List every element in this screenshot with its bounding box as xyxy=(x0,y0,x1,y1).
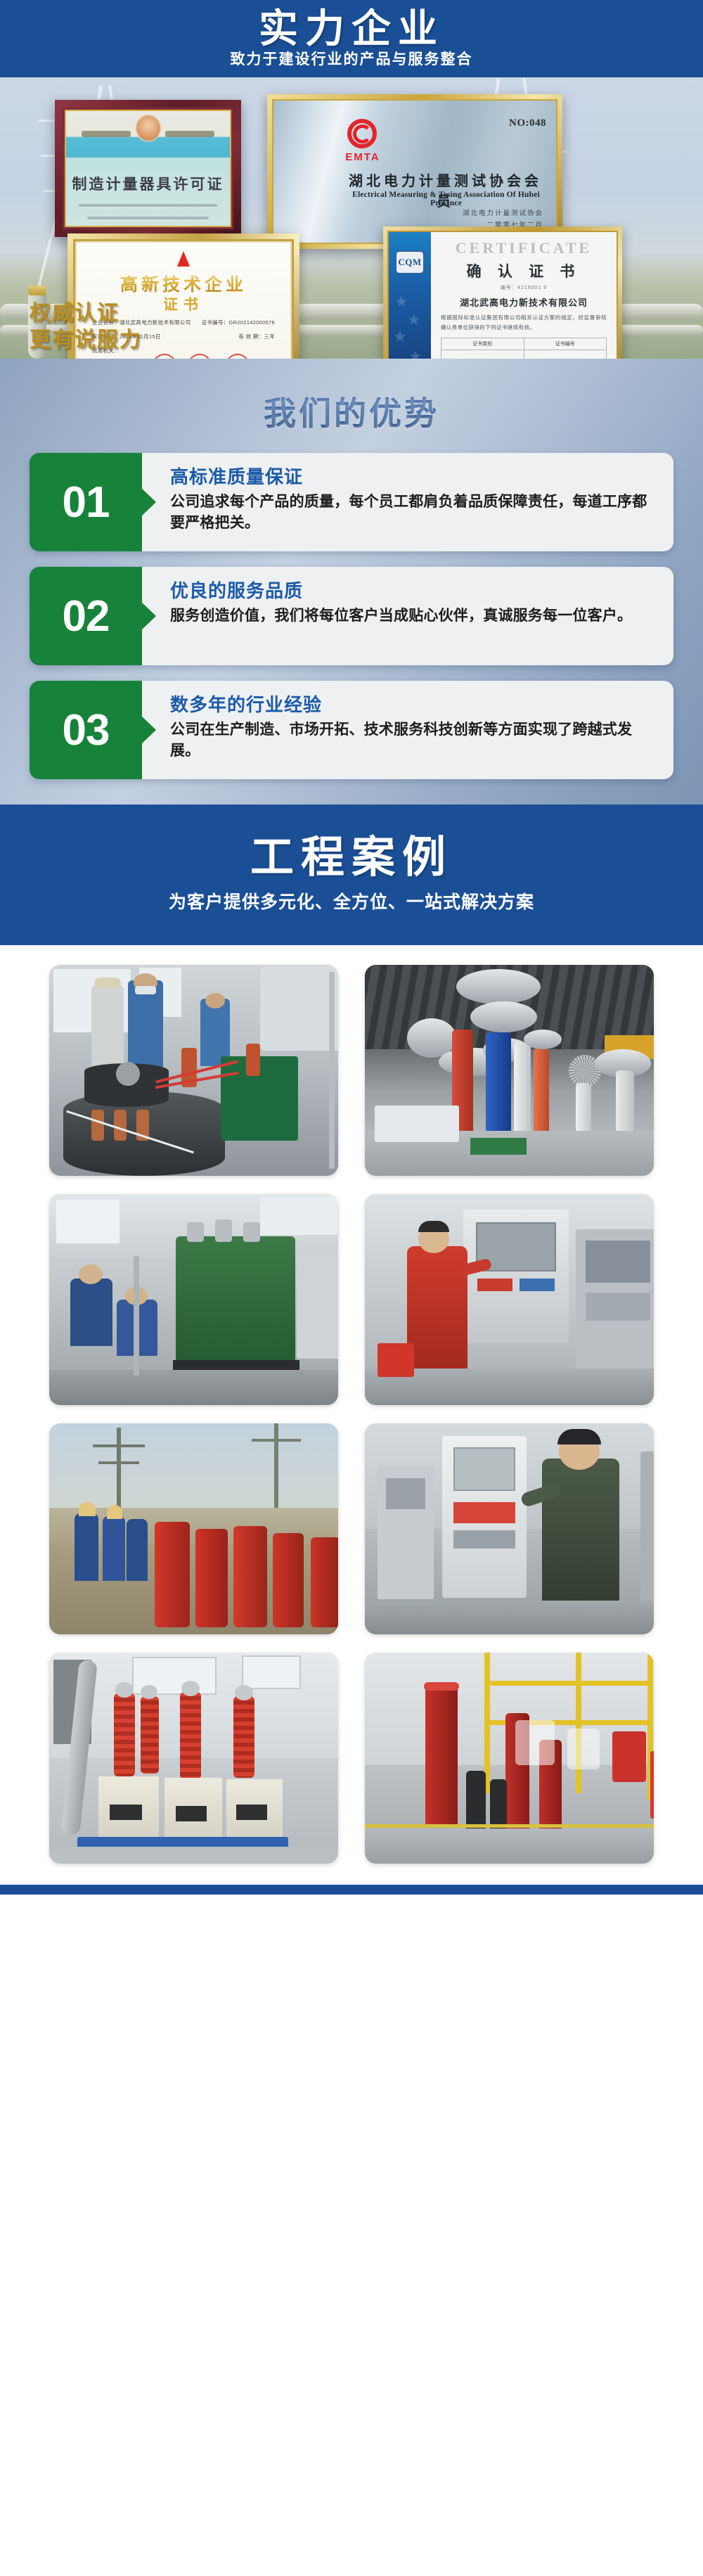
footer-bar xyxy=(0,1885,703,1895)
cases-title: 工程案例 xyxy=(250,836,453,880)
scene xyxy=(49,1423,338,1634)
field-value-validity: 三年 xyxy=(264,333,275,340)
certificate-mat: 制造计量器具许可证 xyxy=(65,110,231,227)
advantage-number-badge: 03 xyxy=(30,681,142,779)
photo-engineer-cabinet[interactable]: 工程师检查试验装置 xyxy=(365,1423,654,1634)
scene xyxy=(49,1194,338,1405)
certificate-code: 编号：4219001 9 xyxy=(431,284,617,291)
certificate-title: 制造计量器具许可证 xyxy=(66,173,230,194)
ribbon-left-decoration xyxy=(82,131,131,137)
certificate-issuer: 湖北电力计量测试协会 xyxy=(463,207,543,217)
advantages-heading: 我们的优势 xyxy=(0,377,703,453)
certificate-emta-membership[interactable]: NO:048 EMTA 湖北电力计量测试协会会员 Electrical Meas… xyxy=(267,94,562,249)
slogan-line-1: 权威认证 xyxy=(30,300,142,327)
advantage-number: 03 xyxy=(63,705,110,755)
advantage-card-01[interactable]: 01 高标准质量保证 公司追求每个产品的质量，每个员工都肩负着品质保障责任，每道… xyxy=(30,453,673,551)
photo-technician-panel[interactable]: 红色工装技术人员操作控制柜 xyxy=(365,1194,654,1405)
cases-subtitle: 为客户提供多元化、全方位、一站式解决方案 xyxy=(169,888,534,914)
advantage-description: 公司追求每个产品的质量，每个员工都肩负着品质保障责任，每道工序都要严格把关。 xyxy=(170,492,657,534)
certificates-slogan: 权威认证 更有说服力 xyxy=(30,300,142,353)
scene xyxy=(49,965,338,1176)
advantage-content: 高标准质量保证 公司追求每个产品的质量，每个员工都肩负着品质保障责任，每道工序都… xyxy=(142,453,673,551)
certificate-title-en: CERTIFICATE xyxy=(431,239,617,257)
advantages-list: 01 高标准质量保证 公司追求每个产品的质量，每个员工都肩负着品质保障责任，每道… xyxy=(0,453,703,779)
photo-hv-test-hall[interactable]: 高压试验大厅设备 xyxy=(365,965,654,1176)
scene xyxy=(49,1653,338,1864)
certificate-body: ★ ★ ★ ★ CQM CERTIFICATE 确 认 证 书 编号：42190… xyxy=(389,232,617,359)
photo-red-bushings[interactable]: 红色套管试验变压器成品 xyxy=(49,1653,338,1864)
page-subtitle: 致力于建设行业的产品与服务整合 xyxy=(231,51,473,68)
high-tech-flame-icon xyxy=(177,251,190,267)
certificate-title-line1: 高新技术企业 xyxy=(77,271,290,296)
cases-banner: 工程案例 为客户提供多元化、全方位、一站式解决方案 xyxy=(0,805,703,945)
certificate-main: CERTIFICATE 确 认 证 书 编号：4219001 9 湖北武高电力新… xyxy=(431,232,617,359)
photo-field-poles[interactable]: 户外杆塔现场红色设备安装 xyxy=(49,1423,338,1634)
scene xyxy=(365,1423,654,1634)
advantage-title: 高标准质量保证 xyxy=(170,463,657,489)
advantage-description: 公司在生产制造、市场开拓、技术服务科技创新等方面实现了跨越式发展。 xyxy=(170,719,657,762)
scene xyxy=(365,1653,654,1864)
certificate-company: 湖北武高电力新技术有限公司 xyxy=(431,295,617,309)
advantage-number-badge: 02 xyxy=(30,567,142,665)
emta-logo-icon xyxy=(347,119,377,148)
certificate-number: NO:048 xyxy=(509,117,546,129)
certificate-table: 证书类别 质量管理体系认证证书 证书编号 00217Q27610R2S xyxy=(441,338,607,359)
advantage-content: 数多年的行业经验 公司在生产制造、市场开拓、技术服务科技创新等方面实现了跨越式发… xyxy=(142,681,673,779)
advantage-number: 01 xyxy=(63,478,110,527)
field-label-validity: 有 效 期： xyxy=(238,333,264,340)
scene xyxy=(365,1194,654,1405)
field-value-cert-no: GR202142000576 xyxy=(228,319,275,326)
certificate-side-rail: ★ ★ ★ ★ CQM xyxy=(389,232,431,359)
cqm-badge-icon: CQM xyxy=(395,250,425,274)
scene xyxy=(365,965,654,1176)
national-emblem-icon xyxy=(136,115,160,141)
advantage-number: 02 xyxy=(63,591,110,641)
photo-green-transformer[interactable]: 绿色干式变压器现场调试 xyxy=(49,1194,338,1405)
table-cell-type: 质量管理体系认证证书 xyxy=(441,350,524,359)
field-label-cert-no: 证书编号： xyxy=(201,319,228,326)
advantage-content: 优良的服务品质 服务创造价值，我们将每位客户当成贴心伙伴，真诚服务每一位客户。 xyxy=(142,567,673,665)
advantage-number-badge: 01 xyxy=(30,453,142,551)
table-header-type: 证书类别 xyxy=(441,338,524,350)
certificate-manufacturing-license[interactable]: 制造计量器具许可证 xyxy=(55,100,241,237)
cases-gallery: 车间变压器装配作业 xyxy=(0,945,703,1885)
advantages-section: 我们的优势 01 高标准质量保证 公司追求每个产品的质量，每个员工都肩负着品质保… xyxy=(0,359,703,805)
advantage-card-03[interactable]: 03 数多年的行业经验 公司在生产制造、市场开拓、技术服务科技创新等方面实现了跨… xyxy=(30,681,673,779)
table-cell-number: 00217Q27610R2S xyxy=(524,350,607,359)
photo-transformer-assembly[interactable]: 车间变压器装配作业 xyxy=(49,965,338,1176)
advantage-title: 优良的服务品质 xyxy=(170,577,657,603)
advantage-card-02[interactable]: 02 优良的服务品质 服务创造价值，我们将每位客户当成贴心伙伴，真诚服务每一位客… xyxy=(30,567,673,665)
page-title: 实力企业 xyxy=(259,9,444,49)
certificate-plate: NO:048 EMTA 湖北电力计量测试协会会员 Electrical Meas… xyxy=(273,101,556,243)
emta-logo-text: EMTA xyxy=(338,151,387,163)
slogan-line-2: 更有说服力 xyxy=(30,327,142,354)
advantage-title: 数多年的行业经验 xyxy=(170,691,657,717)
certificate-body-text: 根据国际标准认证集团有限公司相关认证方案的规定，经监督审核确认贵单位获得的下列证… xyxy=(441,313,607,333)
certificate-title-cn: 确 认 证 书 xyxy=(431,260,617,281)
ribbon-right-decoration xyxy=(165,131,214,137)
certificates-section: 制造计量器具许可证 NO:048 EMTA 湖北电力计量测试协会会员 Elect… xyxy=(0,77,703,359)
photo-red-cylinders[interactable]: 车间内红色串级试验装置 xyxy=(365,1653,654,1864)
table-header-number: 证书编号 xyxy=(524,338,607,350)
certificate-cqm-confirmation[interactable]: ★ ★ ★ ★ CQM CERTIFICATE 确 认 证 书 编号：42190… xyxy=(383,226,622,359)
hero-banner: 实力企业 致力于建设行业的产品与服务整合 xyxy=(0,0,703,77)
advantage-description: 服务创造价值，我们将每位客户当成贴心伙伴，真诚服务每一位客户。 xyxy=(170,605,657,627)
certificate-title-en: Electrical Measuring & Tesing Associatio… xyxy=(340,191,552,207)
product-detail-page: 实力企业 致力于建设行业的产品与服务整合 xyxy=(0,0,703,1895)
